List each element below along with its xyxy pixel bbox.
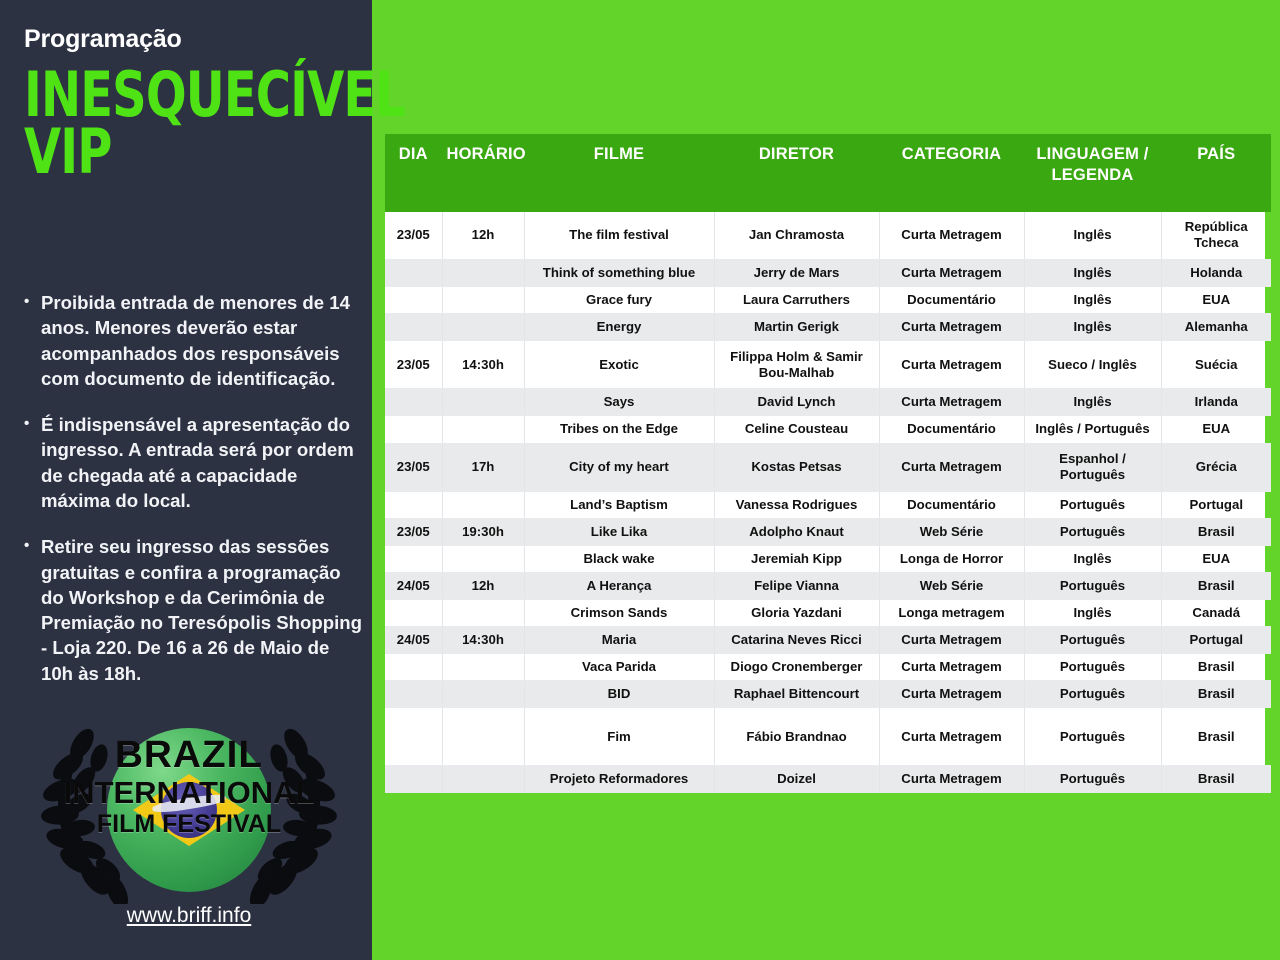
cell-filme: Black wake xyxy=(524,545,714,572)
cell-diretor: Gloria Yazdani xyxy=(714,599,879,626)
table-row[interactable]: 23/0517hCity of my heartKostas PetsasCur… xyxy=(385,443,1271,491)
notices-list: • Proibida entrada de menores de 14 anos… xyxy=(24,290,364,707)
cell-filme: Crimson Sands xyxy=(524,599,714,626)
cell-categoria: Curta Metragem xyxy=(879,212,1024,260)
left-info-panel: Programação INESQUECÍVEL VIP • Proibida … xyxy=(0,0,372,960)
cell-horario xyxy=(442,389,524,416)
cell-linguagem: Sueco / Inglês xyxy=(1024,341,1161,389)
table-row[interactable]: SaysDavid LynchCurta MetragemInglêsIrlan… xyxy=(385,389,1271,416)
cell-horario xyxy=(442,681,524,708)
cell-linguagem: Inglês xyxy=(1024,389,1161,416)
cell-filme: Exotic xyxy=(524,341,714,389)
table-row[interactable]: 23/0512hThe film festivalJan ChramostaCu… xyxy=(385,212,1271,260)
cell-diretor: Vanessa Rodrigues xyxy=(714,491,879,518)
cell-horario: 14:30h xyxy=(442,341,524,389)
table-row[interactable]: Think of something blueJerry de MarsCurt… xyxy=(385,260,1271,287)
table-row[interactable]: 23/0519:30hLike LikaAdolpho KnautWeb Sér… xyxy=(385,518,1271,545)
cell-diretor: Jerry de Mars xyxy=(714,260,879,287)
cell-horario xyxy=(442,654,524,681)
cell-pais: Brasil xyxy=(1161,654,1271,681)
list-item: • Retire seu ingresso das sessões gratui… xyxy=(24,534,364,686)
cell-filme: Grace fury xyxy=(524,287,714,314)
cell-dia xyxy=(385,314,442,341)
logo-line-1: BRAZIL xyxy=(21,736,358,774)
logo-line-3: FILM FESTIVAL xyxy=(24,812,354,837)
cell-horario: 19:30h xyxy=(442,518,524,545)
cell-filme: Projeto Reformadores xyxy=(524,766,714,793)
cell-categoria: Longa metragem xyxy=(879,599,1024,626)
cell-diretor: Martin Gerigk xyxy=(714,314,879,341)
cell-filme: BID xyxy=(524,681,714,708)
table-row[interactable]: EnergyMartin GerigkCurta MetragemInglêsA… xyxy=(385,314,1271,341)
cell-categoria: Curta Metragem xyxy=(879,260,1024,287)
cell-categoria: Curta Metragem xyxy=(879,314,1024,341)
cell-pais: EUA xyxy=(1161,416,1271,443)
cell-diretor: Diogo Cronemberger xyxy=(714,654,879,681)
cell-linguagem: Português xyxy=(1024,681,1161,708)
cell-pais: Brasil xyxy=(1161,572,1271,599)
cell-diretor: Jeremiah Kipp xyxy=(714,545,879,572)
cell-filme: Vaca Parida xyxy=(524,654,714,681)
cell-horario xyxy=(442,314,524,341)
cell-filme: The film festival xyxy=(524,212,714,260)
cell-linguagem: Português xyxy=(1024,518,1161,545)
column-header-diretor[interactable]: DIRETOR xyxy=(714,134,879,212)
page-title: INESQUECÍVEL VIP xyxy=(24,66,308,180)
bullet-dot-icon: • xyxy=(24,412,41,513)
cell-pais: Grécia xyxy=(1161,443,1271,491)
table-row[interactable]: Vaca ParidaDiogo CronembergerCurta Metra… xyxy=(385,654,1271,681)
cell-linguagem: Inglês xyxy=(1024,212,1161,260)
cell-filme: Energy xyxy=(524,314,714,341)
cell-diretor: Jan Chramosta xyxy=(714,212,879,260)
cell-diretor: Kostas Petsas xyxy=(714,443,879,491)
cell-linguagem: Português xyxy=(1024,491,1161,518)
cell-pais: Alemanha xyxy=(1161,314,1271,341)
cell-pais: Portugal xyxy=(1161,491,1271,518)
cell-dia: 24/05 xyxy=(385,627,442,654)
cell-horario: 12h xyxy=(442,212,524,260)
bullet-dot-icon: • xyxy=(24,534,41,686)
cell-linguagem: Inglês xyxy=(1024,545,1161,572)
bullet-dot-icon: • xyxy=(24,290,41,391)
cell-dia xyxy=(385,681,442,708)
column-header-pais[interactable]: PAÍS xyxy=(1161,134,1271,212)
schedule-table-container: DIA HORÁRIO FILME DIRETOR CATEGORIA LING… xyxy=(382,131,1268,796)
cell-pais: Canadá xyxy=(1161,599,1271,626)
list-item-text: Proibida entrada de menores de 14 anos. … xyxy=(41,290,364,391)
table-row[interactable]: FimFábio BrandnaoCurta MetragemPortuguês… xyxy=(385,708,1271,766)
column-header-linguagem[interactable]: LINGUAGEM / LEGENDA xyxy=(1024,134,1161,212)
cell-filme: Like Lika xyxy=(524,518,714,545)
cell-diretor: Raphael Bittencourt xyxy=(714,681,879,708)
cell-linguagem: Inglês / Português xyxy=(1024,416,1161,443)
list-item: • É indispensável a apresentação do ingr… xyxy=(24,412,364,513)
cell-linguagem: Português xyxy=(1024,766,1161,793)
cell-categoria: Web Série xyxy=(879,572,1024,599)
festival-logo: BRAZIL INTERNATIONAL FILM FESTIVAL www.b… xyxy=(24,722,354,928)
cell-filme: Land’s Baptism xyxy=(524,491,714,518)
cell-filme: Think of something blue xyxy=(524,260,714,287)
cell-pais: Brasil xyxy=(1161,708,1271,766)
cell-pais: Brasil xyxy=(1161,681,1271,708)
table-header: DIA HORÁRIO FILME DIRETOR CATEGORIA LING… xyxy=(385,134,1271,212)
cell-diretor: Adolpho Knaut xyxy=(714,518,879,545)
table-row[interactable]: Black wakeJeremiah KippLonga de HorrorIn… xyxy=(385,545,1271,572)
website-link[interactable]: www.briff.info xyxy=(127,904,252,927)
column-header-filme[interactable]: FILME xyxy=(524,134,714,212)
schedule-table: DIA HORÁRIO FILME DIRETOR CATEGORIA LING… xyxy=(385,134,1271,793)
table-row[interactable]: 24/0512hA HerançaFelipe ViannaWeb SérieP… xyxy=(385,572,1271,599)
list-item-text: É indispensável a apresentação do ingres… xyxy=(41,412,364,513)
cell-categoria: Curta Metragem xyxy=(879,681,1024,708)
cell-pais: República Tcheca xyxy=(1161,212,1271,260)
cell-dia xyxy=(385,491,442,518)
cell-dia: 24/05 xyxy=(385,572,442,599)
cell-dia xyxy=(385,416,442,443)
schedule-poster: Programação INESQUECÍVEL VIP • Proibida … xyxy=(0,0,1280,960)
cell-dia xyxy=(385,287,442,314)
cell-diretor: David Lynch xyxy=(714,389,879,416)
cell-diretor: Laura Carruthers xyxy=(714,287,879,314)
column-header-dia[interactable]: DIA xyxy=(385,134,442,212)
table-body: 23/0512hThe film festivalJan ChramostaCu… xyxy=(385,212,1271,793)
table-row[interactable]: Grace furyLaura CarruthersDocumentárioIn… xyxy=(385,287,1271,314)
cell-dia: 23/05 xyxy=(385,518,442,545)
cell-dia xyxy=(385,545,442,572)
cell-dia xyxy=(385,708,442,766)
cell-diretor: Felipe Vianna xyxy=(714,572,879,599)
cell-horario xyxy=(442,491,524,518)
cell-pais: Portugal xyxy=(1161,627,1271,654)
cell-diretor: Filippa Holm & Samir Bou-Malhab xyxy=(714,341,879,389)
cell-categoria: Curta Metragem xyxy=(879,389,1024,416)
cell-linguagem: Inglês xyxy=(1024,287,1161,314)
cell-horario xyxy=(442,260,524,287)
table-row[interactable]: Tribes on the EdgeCeline CousteauDocumen… xyxy=(385,416,1271,443)
table-header-row: DIA HORÁRIO FILME DIRETOR CATEGORIA LING… xyxy=(385,134,1271,212)
cell-pais: EUA xyxy=(1161,287,1271,314)
cell-horario xyxy=(442,766,524,793)
cell-horario: 14:30h xyxy=(442,627,524,654)
cell-categoria: Documentário xyxy=(879,287,1024,314)
logo-line-2: INTERNATIONAL xyxy=(24,777,354,808)
cell-linguagem: Português xyxy=(1024,627,1161,654)
poster-kicker: Programação xyxy=(24,26,354,54)
cell-categoria: Curta Metragem xyxy=(879,443,1024,491)
cell-horario xyxy=(442,599,524,626)
cell-horario xyxy=(442,287,524,314)
cell-pais: Brasil xyxy=(1161,766,1271,793)
cell-filme: Maria xyxy=(524,627,714,654)
table-row[interactable]: Land’s BaptismVanessa RodriguesDocumentá… xyxy=(385,491,1271,518)
cell-categoria: Curta Metragem xyxy=(879,708,1024,766)
cell-horario xyxy=(442,545,524,572)
cell-categoria: Documentário xyxy=(879,416,1024,443)
cell-dia xyxy=(385,654,442,681)
cell-filme: A Herança xyxy=(524,572,714,599)
cell-categoria: Curta Metragem xyxy=(879,627,1024,654)
cell-filme: Says xyxy=(524,389,714,416)
table-row[interactable]: 23/0514:30hExoticFilippa Holm & Samir Bo… xyxy=(385,341,1271,389)
cell-dia: 23/05 xyxy=(385,443,442,491)
cell-linguagem: Português xyxy=(1024,708,1161,766)
cell-linguagem: Inglês xyxy=(1024,314,1161,341)
list-item: • Proibida entrada de menores de 14 anos… xyxy=(24,290,364,391)
cell-horario: 17h xyxy=(442,443,524,491)
column-header-categoria[interactable]: CATEGORIA xyxy=(879,134,1024,212)
cell-filme: Fim xyxy=(524,708,714,766)
cell-linguagem: Inglês xyxy=(1024,599,1161,626)
column-header-horario[interactable]: HORÁRIO xyxy=(442,134,524,212)
cell-linguagem: Português xyxy=(1024,654,1161,681)
logo-wordmark: BRAZIL INTERNATIONAL FILM FESTIVAL xyxy=(24,736,354,837)
cell-categoria: Curta Metragem xyxy=(879,766,1024,793)
cell-diretor: Catarina Neves Ricci xyxy=(714,627,879,654)
cell-linguagem: Português xyxy=(1024,572,1161,599)
cell-dia xyxy=(385,389,442,416)
cell-dia xyxy=(385,766,442,793)
cell-pais: Brasil xyxy=(1161,518,1271,545)
cell-linguagem: Inglês xyxy=(1024,260,1161,287)
cell-horario xyxy=(442,708,524,766)
cell-horario: 12h xyxy=(442,572,524,599)
table-row[interactable]: Projeto ReformadoresDoizelCurta Metragem… xyxy=(385,766,1271,793)
cell-linguagem: Espanhol / Português xyxy=(1024,443,1161,491)
cell-filme: Tribes on the Edge xyxy=(524,416,714,443)
cell-filme: City of my heart xyxy=(524,443,714,491)
cell-categoria: Curta Metragem xyxy=(879,341,1024,389)
cell-pais: Suécia xyxy=(1161,341,1271,389)
cell-pais: Irlanda xyxy=(1161,389,1271,416)
table-row[interactable]: BIDRaphael BittencourtCurta MetragemPort… xyxy=(385,681,1271,708)
cell-diretor: Fábio Brandnao xyxy=(714,708,879,766)
cell-diretor: Doizel xyxy=(714,766,879,793)
logo-badge: BRAZIL INTERNATIONAL FILM FESTIVAL xyxy=(24,722,354,904)
cell-diretor: Celine Cousteau xyxy=(714,416,879,443)
cell-dia xyxy=(385,260,442,287)
cell-categoria: Documentário xyxy=(879,491,1024,518)
cell-dia xyxy=(385,599,442,626)
cell-horario xyxy=(442,416,524,443)
cell-categoria: Longa de Horror xyxy=(879,545,1024,572)
cell-categoria: Web Série xyxy=(879,518,1024,545)
cell-categoria: Curta Metragem xyxy=(879,654,1024,681)
table-row[interactable]: Crimson SandsGloria YazdaniLonga metrage… xyxy=(385,599,1271,626)
table-row[interactable]: 24/0514:30hMariaCatarina Neves RicciCurt… xyxy=(385,627,1271,654)
cell-dia: 23/05 xyxy=(385,212,442,260)
cell-pais: EUA xyxy=(1161,545,1271,572)
list-item-text: Retire seu ingresso das sessões gratuita… xyxy=(41,534,364,686)
cell-pais: Holanda xyxy=(1161,260,1271,287)
cell-dia: 23/05 xyxy=(385,341,442,389)
